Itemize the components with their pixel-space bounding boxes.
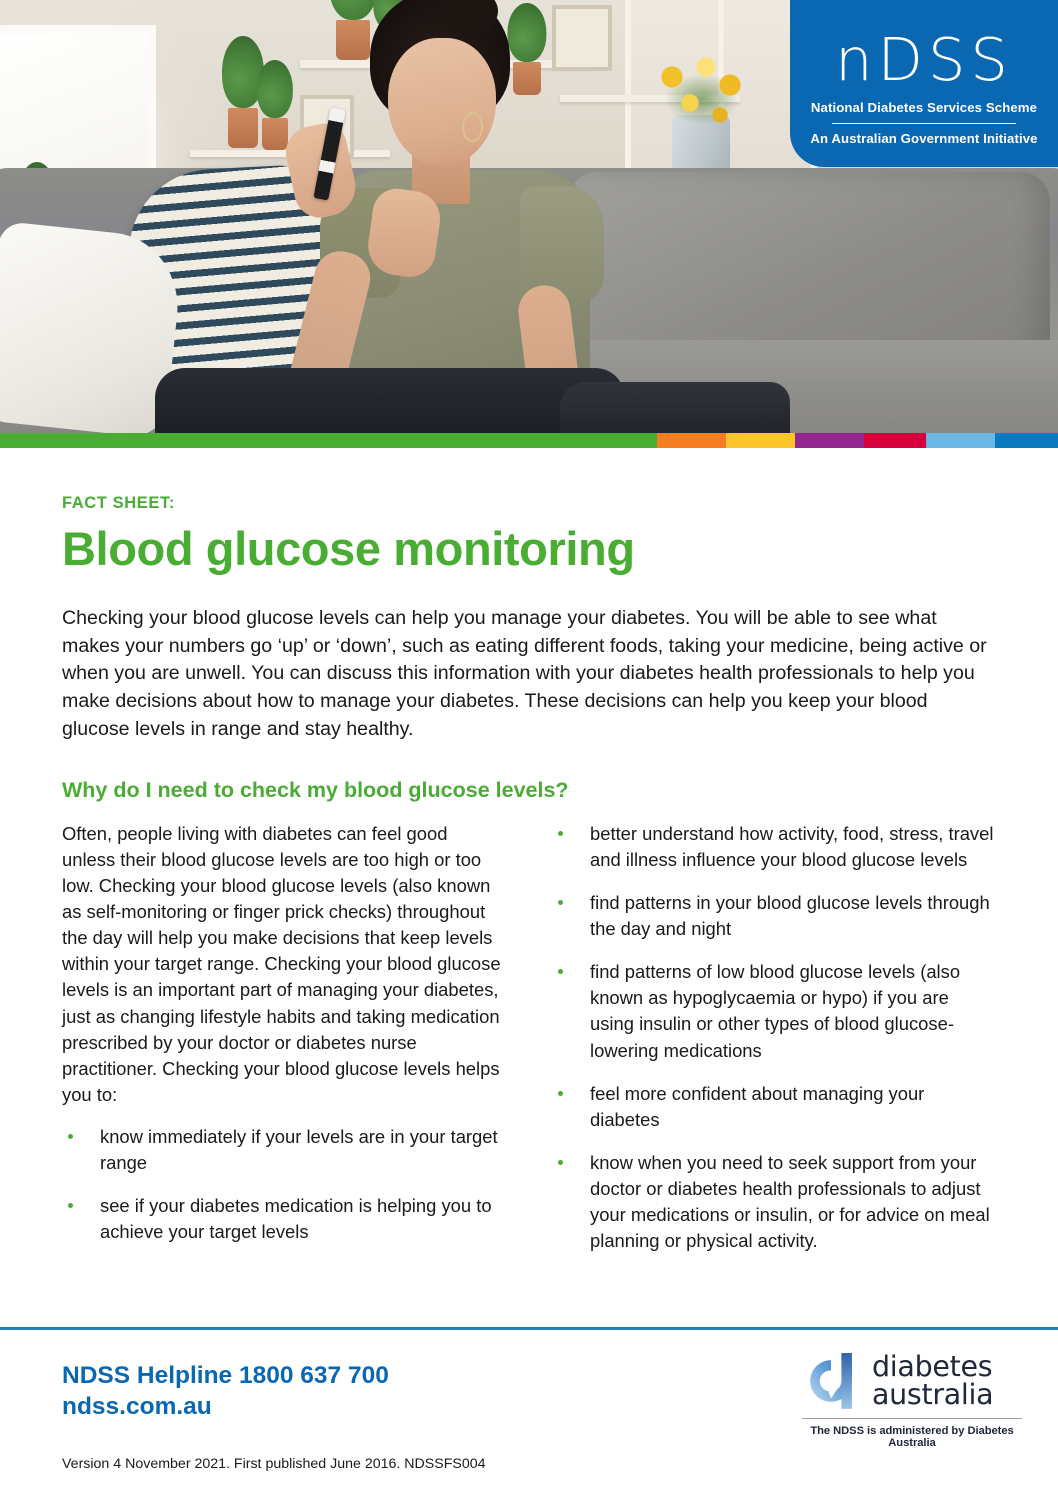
ndss-wordmark: nDSS (790, 30, 1058, 89)
list-item: better understand how activity, food, st… (552, 821, 994, 873)
document-body: FACT SHEET: Blood glucose monitoring Che… (0, 448, 1058, 1271)
left-column-paragraph: Often, people living with diabetes can f… (62, 821, 504, 1108)
stripe-segment-dark-blue (995, 433, 1058, 448)
ndss-helpline[interactable]: NDSS Helpline 1800 637 700 ndss.com.au (62, 1360, 389, 1423)
right-column-bullet-list: better understand how activity, food, st… (552, 821, 994, 1255)
helpline-phone[interactable]: NDSS Helpline 1800 637 700 (62, 1360, 389, 1391)
stripe-segment-green (0, 433, 657, 448)
wordmark-line-1: diabetes (872, 1353, 993, 1381)
section-heading: Why do I need to check my blood glucose … (62, 778, 996, 803)
wordmark-line-2: australia (872, 1381, 993, 1409)
list-item: find patterns of low blood glucose level… (552, 959, 994, 1064)
partner-logo-divider (802, 1418, 1022, 1419)
stripe-segment-yellow (726, 433, 795, 448)
potted-plant-decor (262, 118, 288, 150)
potted-plant-decor (228, 108, 258, 148)
stripe-segment-red (864, 433, 926, 448)
person-jeans (560, 382, 790, 433)
ndss-logo-divider (832, 123, 1016, 124)
stripe-segment-orange (657, 433, 726, 448)
list-item: see if your diabetes medication is helpi… (62, 1193, 504, 1245)
ndss-logo-tagline: An Australian Government Initiative (790, 131, 1058, 146)
page-title: Blood glucose monitoring (62, 524, 996, 573)
potted-plant-decor (336, 20, 370, 60)
list-item: feel more confident about managing your … (552, 1081, 994, 1133)
person-sleeve-right (520, 186, 604, 304)
two-column-layout: Often, people living with diabetes can f… (62, 821, 996, 1272)
helpline-website[interactable]: ndss.com.au (62, 1391, 389, 1422)
administered-by-note: The NDSS is administered by Diabetes Aus… (802, 1425, 1022, 1449)
version-text: Version 4 November 2021. First published… (62, 1456, 486, 1472)
potted-plant-decor (513, 62, 541, 95)
diabetes-australia-logo: diabetes australia The NDSS is administe… (802, 1352, 1022, 1449)
ndss-logo-subtitle: National Diabetes Services Scheme (790, 100, 1058, 115)
stripe-segment-light-blue (926, 433, 995, 448)
person-jeans (155, 368, 625, 433)
flowers-decor (650, 55, 755, 130)
picture-frame-decor (552, 5, 612, 71)
intro-paragraph: Checking your blood glucose levels can h… (62, 605, 992, 744)
right-column: better understand how activity, food, st… (552, 821, 994, 1272)
diabetes-australia-wordmark: diabetes australia (872, 1353, 993, 1409)
stripe-segment-purple (795, 433, 864, 448)
header-hero-image: nDSS National Diabetes Services Scheme A… (0, 0, 1058, 433)
earring-decor (462, 112, 483, 142)
fact-sheet-kicker: FACT SHEET: (62, 494, 996, 513)
brand-colour-stripe (0, 433, 1058, 448)
left-column: Often, people living with diabetes can f… (62, 821, 504, 1272)
diabetes-australia-mark-icon (802, 1352, 860, 1410)
list-item: find patterns in your blood glucose leve… (552, 890, 994, 942)
list-item: know when you need to seek support from … (552, 1150, 994, 1255)
page-footer: NDSS Helpline 1800 637 700 ndss.com.au V… (0, 1330, 1058, 1497)
ndss-logo-block: nDSS National Diabetes Services Scheme A… (790, 0, 1058, 167)
left-column-bullet-list: know immediately if your levels are in y… (62, 1124, 504, 1246)
list-item: know immediately if your levels are in y… (62, 1124, 504, 1176)
person-face (388, 38, 496, 166)
